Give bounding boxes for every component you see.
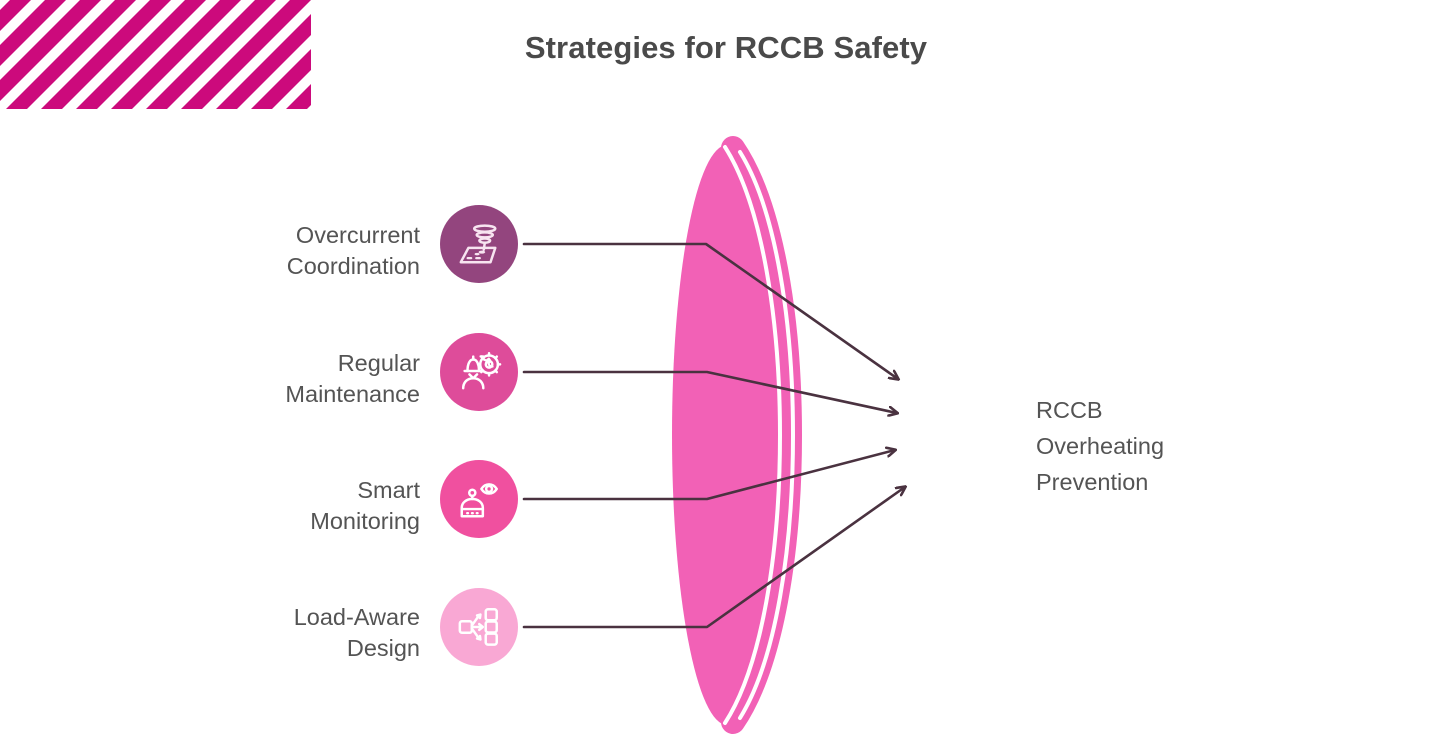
- focal-label-rccb-overheating-prevention: RCCB Overheating Prevention: [1036, 392, 1276, 500]
- infographic-canvas: Strategies for RCCB Safety Overcurrent C…: [0, 0, 1452, 755]
- strategy-label-regular-maintenance: Regular Maintenance: [160, 348, 420, 410]
- strategy-icon-load-aware-design[interactable]: [440, 588, 518, 666]
- focal-label-line2: Overheating: [1036, 428, 1276, 464]
- strategy-icon-overcurrent-coordination[interactable]: [440, 205, 518, 283]
- surge-tornado-icon: [456, 221, 502, 267]
- strategy-label-line2: Coordination: [160, 251, 420, 282]
- strategy-label-line2: Design: [160, 633, 420, 664]
- strategy-label-line1: Load-Aware: [160, 602, 420, 633]
- strategy-label-line1: Overcurrent: [160, 220, 420, 251]
- strategy-label-line1: Smart: [160, 475, 420, 506]
- funnel-shape: [672, 145, 793, 725]
- worker-gear-icon: [456, 349, 502, 395]
- sensor-eye-icon: [456, 476, 502, 522]
- strategy-label-load-aware-design: Load-Aware Design: [160, 602, 420, 664]
- focal-label-line1: RCCB: [1036, 392, 1276, 428]
- strategy-icon-smart-monitoring[interactable]: [440, 460, 518, 538]
- chip-flame-icon: [931, 410, 997, 476]
- strategy-label-smart-monitoring: Smart Monitoring: [160, 475, 420, 537]
- strategy-icon-regular-maintenance[interactable]: [440, 333, 518, 411]
- strategy-label-line2: Monitoring: [160, 506, 420, 537]
- strategy-label-line1: Regular: [160, 348, 420, 379]
- load-distribution-icon: [456, 604, 502, 650]
- strategy-label-overcurrent-coordination: Overcurrent Coordination: [160, 220, 420, 282]
- strategy-label-line2: Maintenance: [160, 379, 420, 410]
- focal-label-line3: Prevention: [1036, 464, 1276, 500]
- focal-icon-rccb-overheating-prevention[interactable]: [906, 385, 1022, 501]
